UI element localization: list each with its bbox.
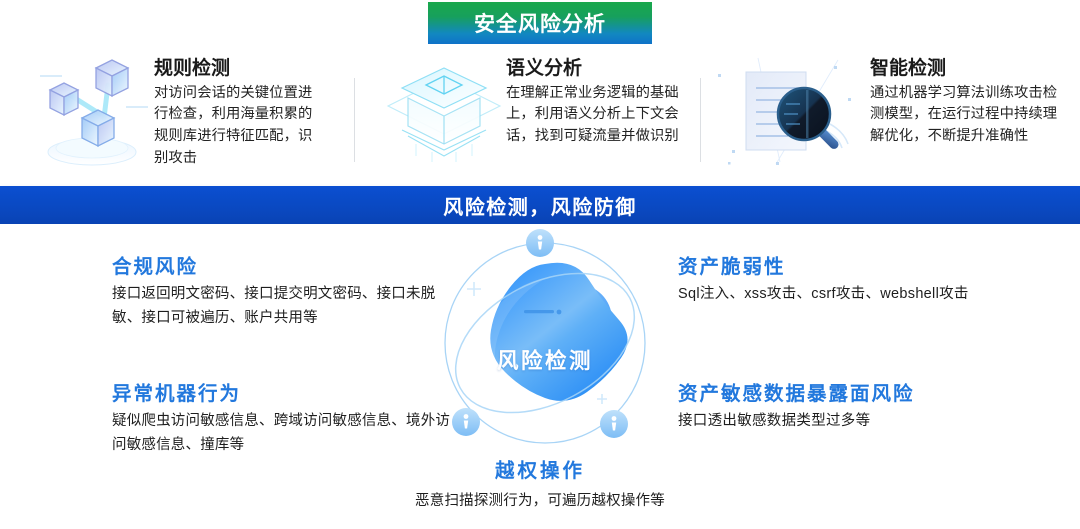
risk-item-asset-vulnerability: 资产脆弱性 Sql注入、xss攻击、csrf攻击、webshell攻击	[678, 255, 1028, 307]
risk-item-compliance: 合规风险 接口返回明文密码、接口提交明文密码、接口未脱敏、接口可被遍历、账户共用…	[112, 255, 442, 330]
page-title: 安全风险分析	[474, 8, 606, 38]
layered-cube-icon	[382, 52, 506, 170]
risk-item-privilege-escalation: 越权操作 恶意扫描探测行为，可遍历越权操作等	[0, 459, 1080, 514]
risk-description: 疑似爬虫访问敏感信息、跨域访问敏感信息、境外访问敏感信息、撞库等	[112, 410, 452, 457]
feature-title: 规则检测	[154, 56, 324, 82]
feature-description: 通过机器学习算法训练攻击检测模型，在运行过程中持续理解优化，不断提升准确性	[870, 83, 1070, 148]
risk-title: 合规风险	[112, 255, 442, 280]
feature-description: 在理解正常业务逻辑的基础上，利用语义分析上下文会话，找到可疑流量并做识别	[506, 83, 684, 148]
risk-title: 越权操作	[0, 459, 1080, 484]
risk-description: 接口返回明文密码、接口提交明文密码、接口未脱敏、接口可被遍历、账户共用等	[112, 283, 442, 330]
risk-item-sensitive-data-exposure: 资产敏感数据暴露面风险 接口透出敏感数据类型过多等	[678, 382, 1018, 434]
feature-rule-detection: 规则检测 对访问会话的关键位置进行检查，利用海量积累的规则库进行特征匹配，识别攻…	[30, 52, 338, 180]
risk-description: Sql注入、xss攻击、csrf攻击、webshell攻击	[678, 283, 1028, 306]
risk-detection-graphic: 风险检测	[428, 226, 662, 460]
orbit-node-group	[600, 410, 628, 438]
feature-title: 智能检测	[870, 56, 1070, 82]
feature-title: 语义分析	[506, 56, 684, 82]
section-banner-risk-detection: 风险检测，风险防御	[0, 186, 1080, 224]
orbit-node-group	[452, 408, 480, 436]
risk-detection-section: 合规风险 接口返回明文密码、接口提交明文密码、接口未脱敏、接口可被遍历、账户共用…	[0, 224, 1080, 529]
risk-title: 资产脆弱性	[678, 255, 1028, 280]
risk-description: 恶意扫描探测行为，可遍历越权操作等	[0, 490, 1080, 513]
risk-title: 资产敏感数据暴露面风险	[678, 382, 1018, 407]
risk-description: 接口透出敏感数据类型过多等	[678, 410, 1018, 433]
feature-text-block: 智能检测 通过机器学习算法训练攻击检测模型，在运行过程中持续理解优化，不断提升准…	[870, 52, 1070, 148]
section-banner-title: 风险检测，风险防御	[443, 191, 637, 220]
risk-title: 异常机器行为	[112, 382, 452, 407]
orbit-node-group	[526, 229, 554, 257]
connected-cubes-icon	[30, 52, 154, 170]
feature-semantic-analysis: 语义分析 在理解正常业务逻辑的基础上，利用语义分析上下文会话，找到可疑流量并做识…	[382, 52, 682, 180]
feature-description: 对访问会话的关键位置进行检查，利用海量积累的规则库进行特征匹配，识别攻击	[154, 83, 324, 170]
security-risk-analysis-page: 安全风险分析	[0, 0, 1080, 529]
feature-intelligent-detection: 智能检测 通过机器学习算法训练攻击检测模型，在运行过程中持续理解优化，不断提升准…	[712, 52, 1072, 180]
column-divider	[354, 78, 355, 162]
feature-row: 规则检测 对访问会话的关键位置进行检查，利用海量积累的规则库进行特征匹配，识别攻…	[0, 52, 1080, 180]
feature-text-block: 语义分析 在理解正常业务逻辑的基础上，利用语义分析上下文会话，找到可疑流量并做识…	[506, 52, 684, 148]
graphic-center-label: 风险检测	[428, 344, 662, 375]
column-divider	[700, 78, 701, 162]
document-magnifier-icon	[712, 52, 870, 170]
page-title-banner: 安全风险分析	[428, 2, 652, 44]
risk-item-machine-behavior: 异常机器行为 疑似爬虫访问敏感信息、跨域访问敏感信息、境外访问敏感信息、撞库等	[112, 382, 452, 457]
feature-text-block: 规则检测 对访问会话的关键位置进行检查，利用海量积累的规则库进行特征匹配，识别攻…	[154, 52, 324, 170]
